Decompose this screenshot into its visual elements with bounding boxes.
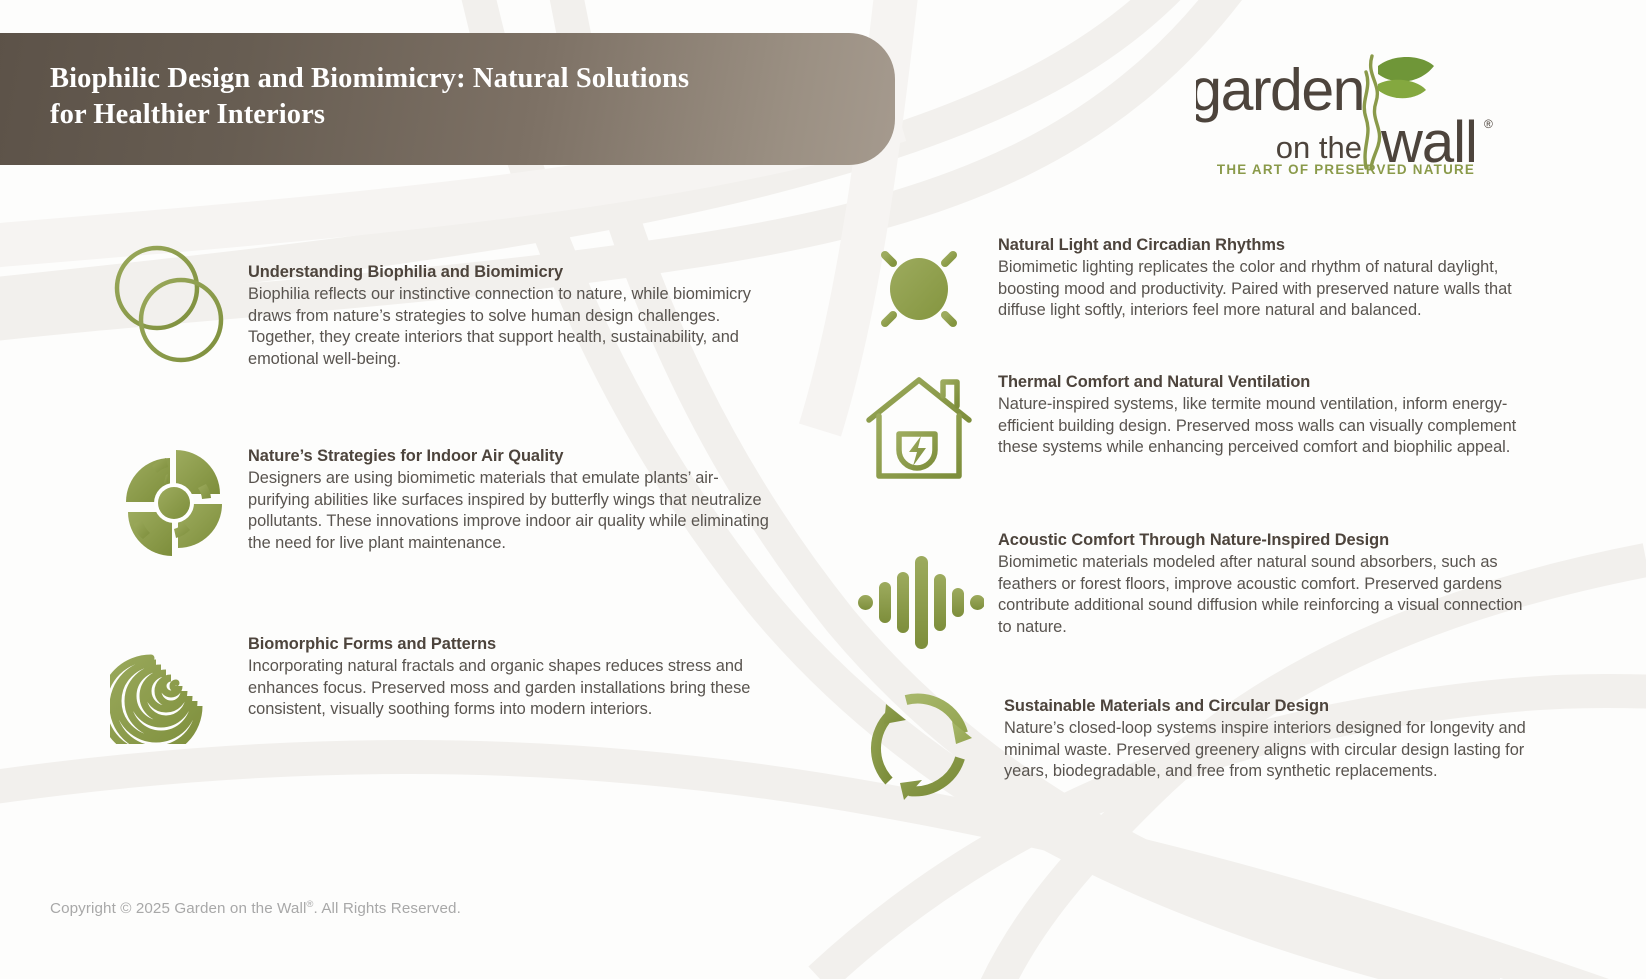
page-title-line-2: for Healthier Interiors (50, 97, 810, 133)
section-text: Biomorphic Forms and Patterns Incorporat… (248, 624, 780, 721)
footer-copyright: Copyright © 2025 Garden on the Wall®. Al… (50, 899, 461, 917)
section-paragraph: Incorporating natural fractals and organ… (248, 656, 780, 721)
page-title-line-1: Biophilic Design and Biomimicry: Natural… (50, 61, 810, 97)
recycle-circular-arrows-icon (840, 664, 998, 804)
section-sustainable-materials: Sustainable Materials and Circular Desig… (840, 664, 1540, 784)
footer-prefix: Copyright © 2025 Garden on the Wall (50, 900, 306, 917)
sound-wave-icon (840, 512, 998, 652)
section-paragraph: Nature’s closed-loop systems inspire int… (1004, 718, 1540, 783)
section-paragraph: Biomimetic materials modeled after natur… (998, 552, 1540, 638)
section-paragraph: Designers are using biomimetic materials… (248, 468, 780, 554)
section-heading: Acoustic Comfort Through Nature-Inspired… (998, 530, 1540, 551)
lightning-bolt (909, 436, 926, 466)
section-paragraph: Biophilia reflects our instinctive conne… (248, 284, 780, 370)
section-text: Nature’s Strategies for Indoor Air Quali… (248, 438, 780, 554)
spiral-icon (100, 624, 248, 744)
section-heading: Biomorphic Forms and Patterns (248, 634, 780, 655)
footer-suffix: . All Rights Reserved. (314, 900, 461, 917)
section-paragraph: Nature-inspired systems, like termite mo… (998, 394, 1540, 459)
section-text: Understanding Biophilia and Biomimicry B… (248, 240, 780, 370)
section-text: Natural Light and Circadian Rhythms Biom… (998, 222, 1540, 322)
infographic-page: Biophilic Design and Biomimicry: Natural… (0, 0, 1646, 979)
page-header: Biophilic Design and Biomimicry: Natural… (0, 0, 1646, 200)
section-natural-light: Natural Light and Circadian Rhythms Biom… (840, 222, 1540, 352)
section-text: Sustainable Materials and Circular Desig… (998, 664, 1540, 783)
overlapping-circles-icon (100, 240, 248, 380)
footer-registered-mark: ® (306, 899, 313, 910)
section-text: Acoustic Comfort Through Nature-Inspired… (998, 512, 1540, 638)
fan-pinwheel-icon (100, 438, 248, 570)
section-paragraph: Biomimetic lighting replicates the color… (998, 257, 1540, 322)
logo-word-garden: garden (1196, 57, 1364, 123)
section-understanding-biophilia: Understanding Biophilia and Biomimicry B… (100, 240, 780, 438)
left-column: Understanding Biophilia and Biomimicry B… (100, 240, 780, 764)
logo-word-on-the: on the (1276, 130, 1362, 165)
section-heading: Understanding Biophilia and Biomimicry (248, 262, 780, 283)
logo-registered-mark: ® (1484, 117, 1493, 131)
section-acoustic-comfort: Acoustic Comfort Through Nature-Inspired… (840, 512, 1540, 664)
section-heading: Nature’s Strategies for Indoor Air Quali… (248, 446, 780, 467)
page-title: Biophilic Design and Biomimicry: Natural… (50, 61, 810, 133)
title-banner: Biophilic Design and Biomimicry: Natural… (0, 33, 895, 165)
section-heading: Natural Light and Circadian Rhythms (998, 235, 1540, 256)
section-heading: Sustainable Materials and Circular Desig… (1004, 696, 1540, 717)
right-column: Natural Light and Circadian Rhythms Biom… (840, 222, 1540, 784)
section-heading: Thermal Comfort and Natural Ventilation (998, 372, 1540, 393)
logo-tagline: THE ART OF PRESERVED NATURE (1217, 162, 1475, 175)
brand-logo[interactable]: garden on the wall ® THE ART OF PRESERVE… (1196, 50, 1496, 175)
section-biomorphic-forms: Biomorphic Forms and Patterns Incorporat… (100, 624, 780, 764)
section-thermal-comfort: Thermal Comfort and Natural Ventilation … (840, 352, 1540, 512)
section-text: Thermal Comfort and Natural Ventilation … (998, 352, 1540, 459)
sun-icon (840, 222, 998, 344)
section-indoor-air-quality: Nature’s Strategies for Indoor Air Quali… (100, 438, 780, 624)
house-plug-icon (840, 352, 998, 488)
